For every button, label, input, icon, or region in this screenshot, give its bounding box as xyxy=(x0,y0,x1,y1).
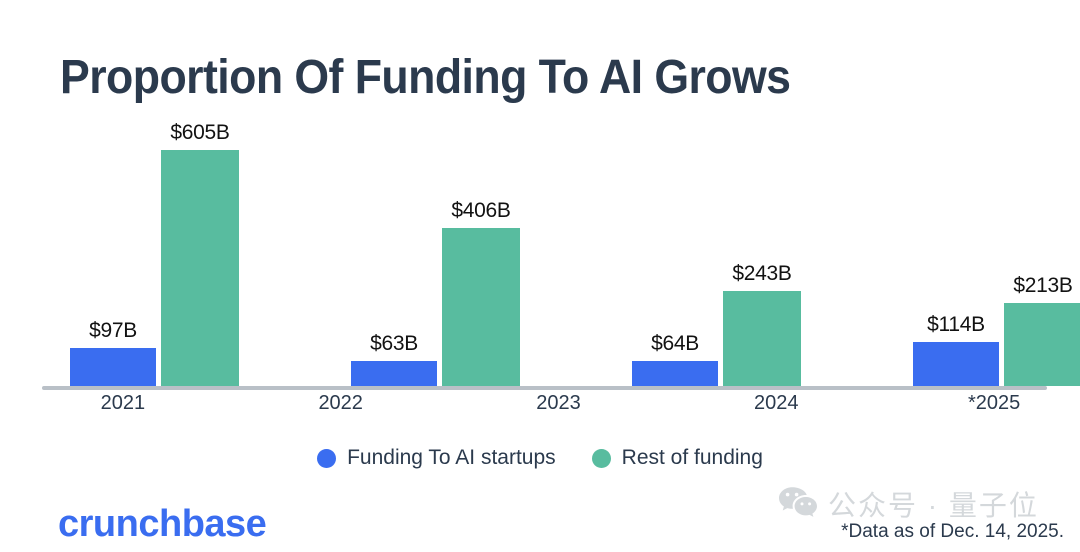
footnote: *Data as of Dec. 14, 2025. xyxy=(841,521,1064,543)
legend-label: Funding To AI startups xyxy=(347,446,556,470)
bar-column[interactable]: $63B xyxy=(351,132,437,386)
bar-groups: $97B$605B$63B$406B$64B$243B$114B$213B$20… xyxy=(70,132,1047,386)
crunchbase-logo: crunchbase xyxy=(58,503,266,546)
bar[interactable] xyxy=(442,228,520,386)
bar-value-label: $97B xyxy=(89,319,137,343)
bar-group: $114B$213B xyxy=(913,132,1080,386)
x-axis-label: 2023 xyxy=(506,392,612,415)
legend-swatch-icon xyxy=(592,449,611,468)
chart-legend: Funding To AI startups Rest of funding xyxy=(0,446,1080,470)
watermark: 公众号 · 量子位 xyxy=(778,484,1039,524)
bar-value-label: $64B xyxy=(651,332,699,356)
bar-group: $64B$243B xyxy=(632,132,801,386)
bar-column[interactable]: $64B xyxy=(632,132,718,386)
bar-column[interactable]: $243B xyxy=(723,132,801,386)
bar-value-label: $63B xyxy=(370,332,418,356)
bar-column[interactable]: $114B xyxy=(913,132,999,386)
legend-item-ai-funding[interactable]: Funding To AI startups xyxy=(317,446,556,470)
bar[interactable] xyxy=(70,348,156,386)
bar-column[interactable]: $97B xyxy=(70,132,156,386)
x-axis-label: 2022 xyxy=(288,392,394,415)
bar-value-label: $406B xyxy=(451,199,510,223)
bar-group: $63B$406B xyxy=(351,132,520,386)
bar-value-label: $605B xyxy=(170,121,229,145)
bar[interactable] xyxy=(161,150,239,386)
legend-swatch-icon xyxy=(317,449,336,468)
x-axis-label: 2021 xyxy=(70,392,176,415)
page-title: Proportion Of Funding To AI Grows xyxy=(60,50,790,105)
bar-column[interactable]: $605B xyxy=(161,132,239,386)
bar-value-label: $114B xyxy=(927,313,985,337)
bar-value-label: $243B xyxy=(732,262,791,286)
x-axis-label: 2024 xyxy=(723,392,829,415)
chart-canvas: Proportion Of Funding To AI Grows $97B$6… xyxy=(0,0,1080,552)
legend-label: Rest of funding xyxy=(622,446,763,470)
bar[interactable] xyxy=(913,342,999,386)
bar-value-label: $213B xyxy=(1013,274,1072,298)
legend-item-rest-of-funding[interactable]: Rest of funding xyxy=(592,446,763,470)
bar[interactable] xyxy=(632,361,718,386)
bar-column[interactable]: $213B xyxy=(1004,132,1080,386)
bar[interactable] xyxy=(351,361,437,386)
plot-area: $97B$605B$63B$406B$64B$243B$114B$213B$20… xyxy=(42,132,1047,390)
bar[interactable] xyxy=(723,291,801,386)
x-axis-line xyxy=(42,386,1047,390)
x-axis-label: *2025 xyxy=(941,392,1047,415)
x-axis-category-labels: 2021202220232024*2025 xyxy=(70,392,1047,415)
watermark-text: 公众号 · 量子位 xyxy=(828,484,1039,524)
bar-group: $97B$605B xyxy=(70,132,239,386)
bar[interactable] xyxy=(1004,303,1080,386)
bar-column[interactable]: $406B xyxy=(442,132,520,386)
wechat-icon xyxy=(778,486,818,523)
